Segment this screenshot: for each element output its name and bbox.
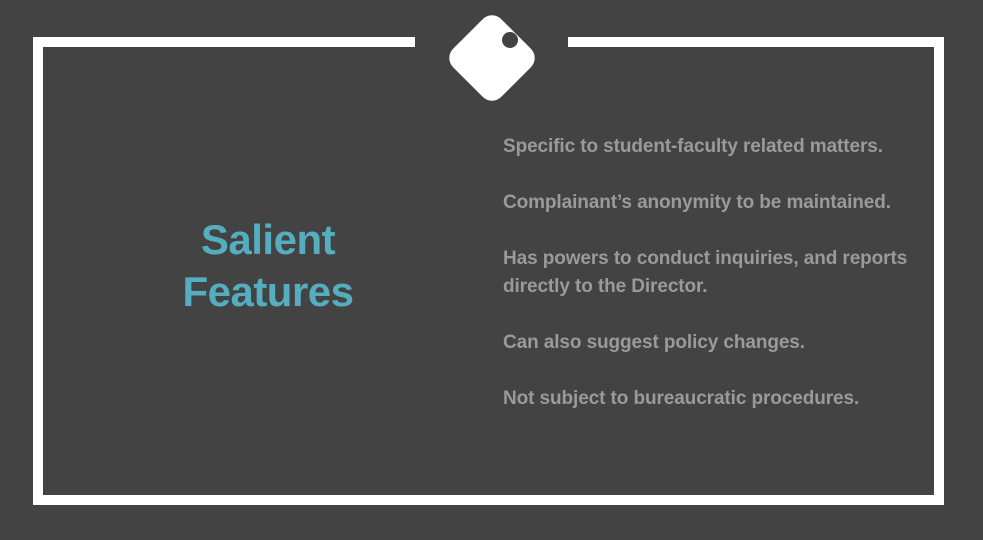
bullet-list: Specific to student-faculty related matt…: [493, 47, 934, 495]
frame-border-bottom: [33, 495, 944, 505]
list-item: Specific to student-faculty related matt…: [503, 133, 933, 161]
list-item: Not subject to bureaucratic procedures.: [503, 385, 933, 413]
frame-border-right: [934, 37, 944, 505]
frame-border-top-right: [568, 37, 944, 47]
frame-border-left: [33, 37, 43, 505]
slide-canvas: Salient Features Specific to student-fac…: [0, 0, 983, 540]
title-column: Salient Features: [43, 47, 493, 495]
list-item: Complainant’s anonymity to be maintained…: [503, 189, 933, 217]
slide-content: Salient Features Specific to student-fac…: [43, 47, 934, 495]
page-title: Salient Features: [182, 214, 353, 318]
list-item: Can also suggest policy changes.: [503, 329, 933, 357]
frame-border-top-left: [33, 37, 415, 47]
list-item: Has powers to conduct inquiries, and rep…: [503, 245, 933, 301]
